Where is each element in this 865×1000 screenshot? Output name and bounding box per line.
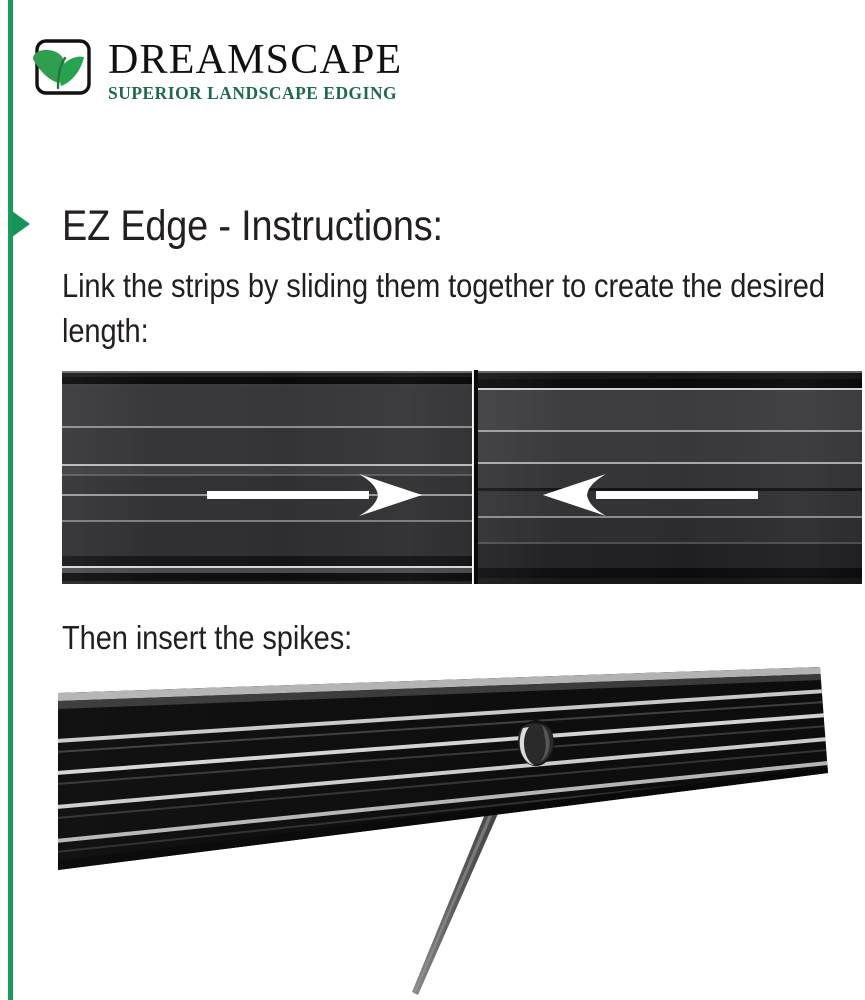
brand-logo: DREAMSCAPE SUPERIOR LANDSCAPE EDGING [28,36,402,108]
arrow-right-icon [207,470,437,520]
green-right-triangle-bullet-icon [12,211,30,237]
strip-seam-divider [472,370,478,584]
brand-wordmark: DREAMSCAPE SUPERIOR LANDSCAPE EDGING [108,36,402,103]
leaf-in-square-icon [28,36,94,102]
eyelet-hole-icon [518,720,554,766]
step-two-instruction-text: Then insert the spikes: [62,615,836,660]
arrow-left-icon [528,470,758,520]
page-title: EZ Edge - Instructions: [62,200,443,252]
figure-insert-spike [56,665,862,1000]
brand-tagline: SUPERIOR LANDSCAPE EDGING [108,83,402,103]
figure-link-strips [62,370,862,584]
edging-strip-angled [56,665,862,880]
left-green-rail [8,0,13,1000]
step-one-instruction-text: Link the strips by sliding them together… [62,263,836,353]
brand-name: DREAMSCAPE [108,38,402,82]
